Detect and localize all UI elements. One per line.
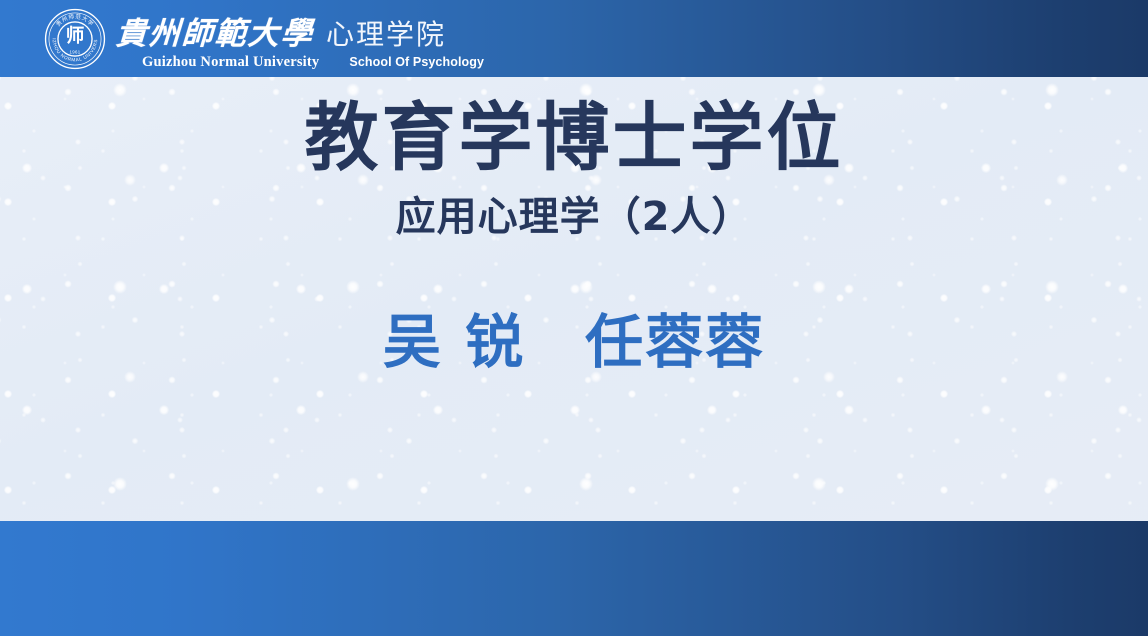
slide-subtitle: 应用心理学（2人） bbox=[0, 179, 1148, 239]
svg-text:师: 师 bbox=[66, 25, 85, 47]
svg-text:1961: 1961 bbox=[69, 49, 80, 54]
footer-band bbox=[0, 521, 1148, 636]
logo-university-name-cn: 貴州師範大學 bbox=[115, 8, 315, 53]
logo-chinese-row: 貴州師範大學 心理学院 bbox=[116, 8, 484, 53]
logo-text-block: 貴州師範大學 心理学院 Guizhou Normal University Sc… bbox=[116, 6, 484, 71]
logo-university-name-en: Guizhou Normal University bbox=[142, 54, 319, 71]
university-seal-emblem: 贵州师范大学 GUIZHOU NORMAL UNIVERSITY 师 1961 bbox=[44, 8, 106, 70]
presentation-slide: 贵州师范大学 GUIZHOU NORMAL UNIVERSITY 师 1961 … bbox=[0, 0, 1148, 636]
logo-school-name-en: School Of Psychology bbox=[349, 55, 484, 69]
logo-school-name-cn: 心理学院 bbox=[326, 13, 446, 53]
recipient-names: 吴 锐 任蓉蓉 bbox=[0, 239, 1148, 375]
logo-english-row: Guizhou Normal University School Of Psyc… bbox=[116, 54, 484, 71]
slide-content: 教育学博士学位 应用心理学（2人） 吴 锐 任蓉蓉 bbox=[0, 77, 1148, 521]
university-logo-lockup: 贵州师范大学 GUIZHOU NORMAL UNIVERSITY 师 1961 … bbox=[44, 6, 484, 71]
slide-main-title: 教育学博士学位 bbox=[0, 77, 1148, 179]
